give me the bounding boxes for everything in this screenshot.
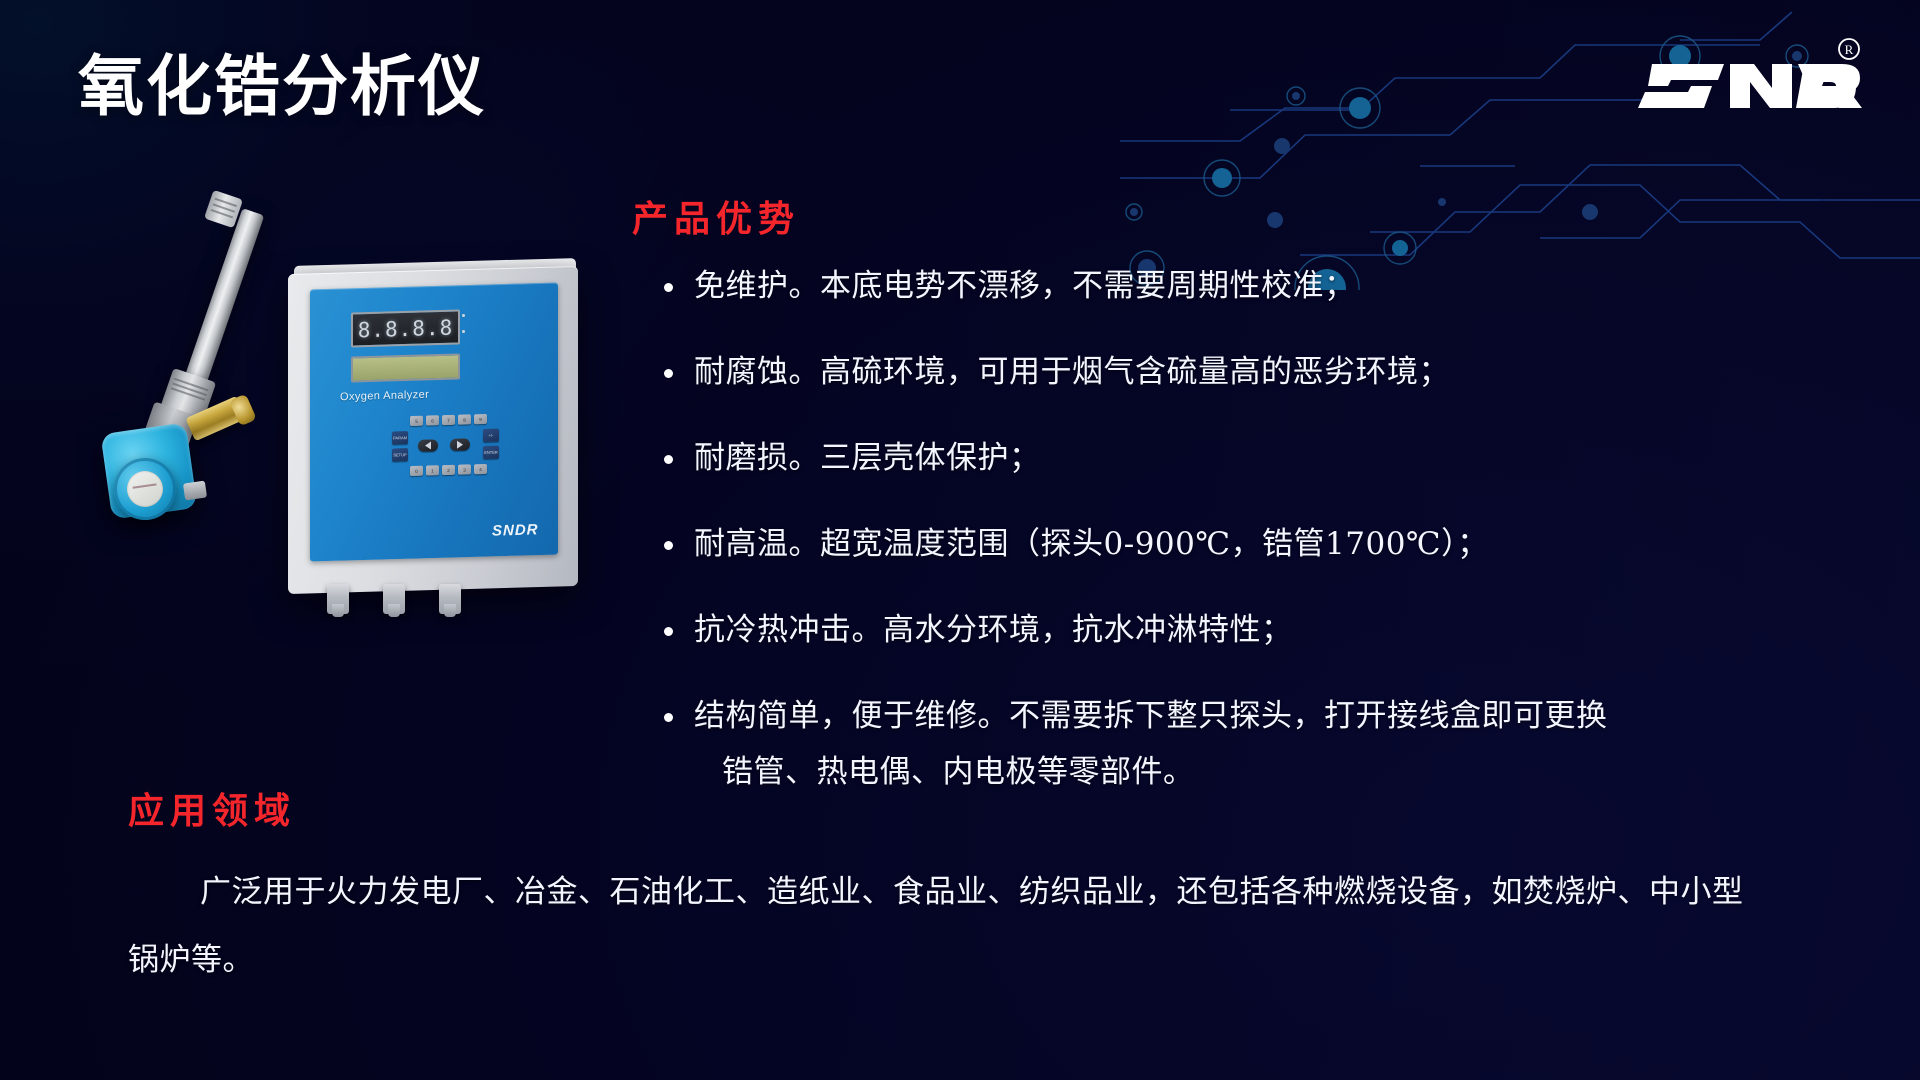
key-6: 6 <box>426 415 439 425</box>
key-3: 3 <box>458 464 471 474</box>
bullet-text: 耐高温。超宽温度范围（探头0-900℃，锆管1700℃）； <box>694 526 1489 562</box>
key-4: 4 <box>474 464 487 474</box>
list-item: 耐腐蚀。高硫环境，可用于烟气含硫量高的恶劣环境； <box>656 344 1886 400</box>
cable-gland-1 <box>327 584 349 614</box>
analyzer-brand-mark: SNDR <box>492 521 539 539</box>
key-plus-minus: +/- <box>483 429 499 442</box>
key-7: 7 <box>442 415 455 425</box>
list-item: 结构简单，便于维修。不需要拆下整只探头，打开接线盒即可更换 锆管、热电偶、内电极… <box>656 688 1886 800</box>
registered-trademark-icon: R <box>1839 39 1859 59</box>
key-arrow-right-icon <box>450 438 470 451</box>
application-heading: 应用领域 <box>128 782 296 834</box>
list-item: 免维护。本底电势不漂移，不需要周期性校准； <box>656 258 1886 314</box>
probe-tube <box>185 208 265 384</box>
advantages-heading: 产品优势 <box>632 190 800 242</box>
key-2: 2 <box>442 465 455 475</box>
key-arrow-left-icon <box>418 439 438 452</box>
bullet-text: 免维护。本底电势不漂移，不需要周期性校准； <box>694 268 1356 304</box>
bullet-text: 耐腐蚀。高硫环境，可用于烟气含硫量高的恶劣环境； <box>694 354 1450 390</box>
svg-text:R: R <box>1845 42 1854 57</box>
bullet-text: 抗冷热冲击。高水分环境，抗水冲淋特性； <box>694 612 1293 648</box>
key-enter: ENTER <box>483 446 499 459</box>
key-param: PARAM <box>392 431 408 444</box>
bullet-text-continuation: 锆管、热电偶、内电极等零部件。 <box>694 744 1886 800</box>
list-item: 耐高温。超宽温度范围（探头0-900℃，锆管1700℃）； <box>656 516 1886 572</box>
cable-gland-3 <box>439 584 461 614</box>
sndr-logo-icon: R <box>1638 30 1868 122</box>
slide-root: R 氧化锆分析仪 8.8.8.8 Oxygen Analyzer 5 6 7 8 <box>0 0 1920 1080</box>
segment-display-indicators <box>462 314 465 346</box>
analyzer-panel-label: Oxygen Analyzer <box>340 389 429 403</box>
key-0: 0 <box>410 466 423 476</box>
cable-gland-2 <box>383 584 405 614</box>
key-8: 8 <box>458 414 471 424</box>
key-5: 5 <box>410 416 423 426</box>
key-setup: SETUP <box>392 448 408 461</box>
lcd-screen <box>351 353 460 382</box>
product-photo: 8.8.8.8 Oxygen Analyzer 5 6 7 8 9 PARAM … <box>88 210 618 640</box>
advantages-list: 免维护。本底电势不漂移，不需要周期性校准； 耐腐蚀。高硫环境，可用于烟气含硫量高… <box>656 258 1886 800</box>
page-title: 氧化锆分析仪 <box>78 48 486 126</box>
application-paragraph: 广泛用于火力发电厂、冶金、石油化工、造纸业、食品业、纺织品业，还包括各种燃烧设备… <box>128 858 1768 994</box>
segment-display: 8.8.8.8 <box>351 309 460 347</box>
junction-box-side-port <box>183 481 207 501</box>
list-item: 抗冷热冲击。高水分环境，抗水冲淋特性； <box>656 602 1886 658</box>
bullet-text: 耐磨损。三层壳体保护； <box>694 440 1041 476</box>
key-9: 9 <box>474 414 487 424</box>
analyzer-keypad: 5 6 7 8 9 PARAM SETUP +/- ENTER 0 1 2 3 … <box>388 413 508 478</box>
bullet-text: 结构简单，便于维修。不需要拆下整只探头，打开接线盒即可更换 <box>694 698 1608 734</box>
list-item: 耐磨损。三层壳体保护； <box>656 430 1886 486</box>
brand-logo: R <box>1638 30 1868 122</box>
key-1: 1 <box>426 465 439 475</box>
